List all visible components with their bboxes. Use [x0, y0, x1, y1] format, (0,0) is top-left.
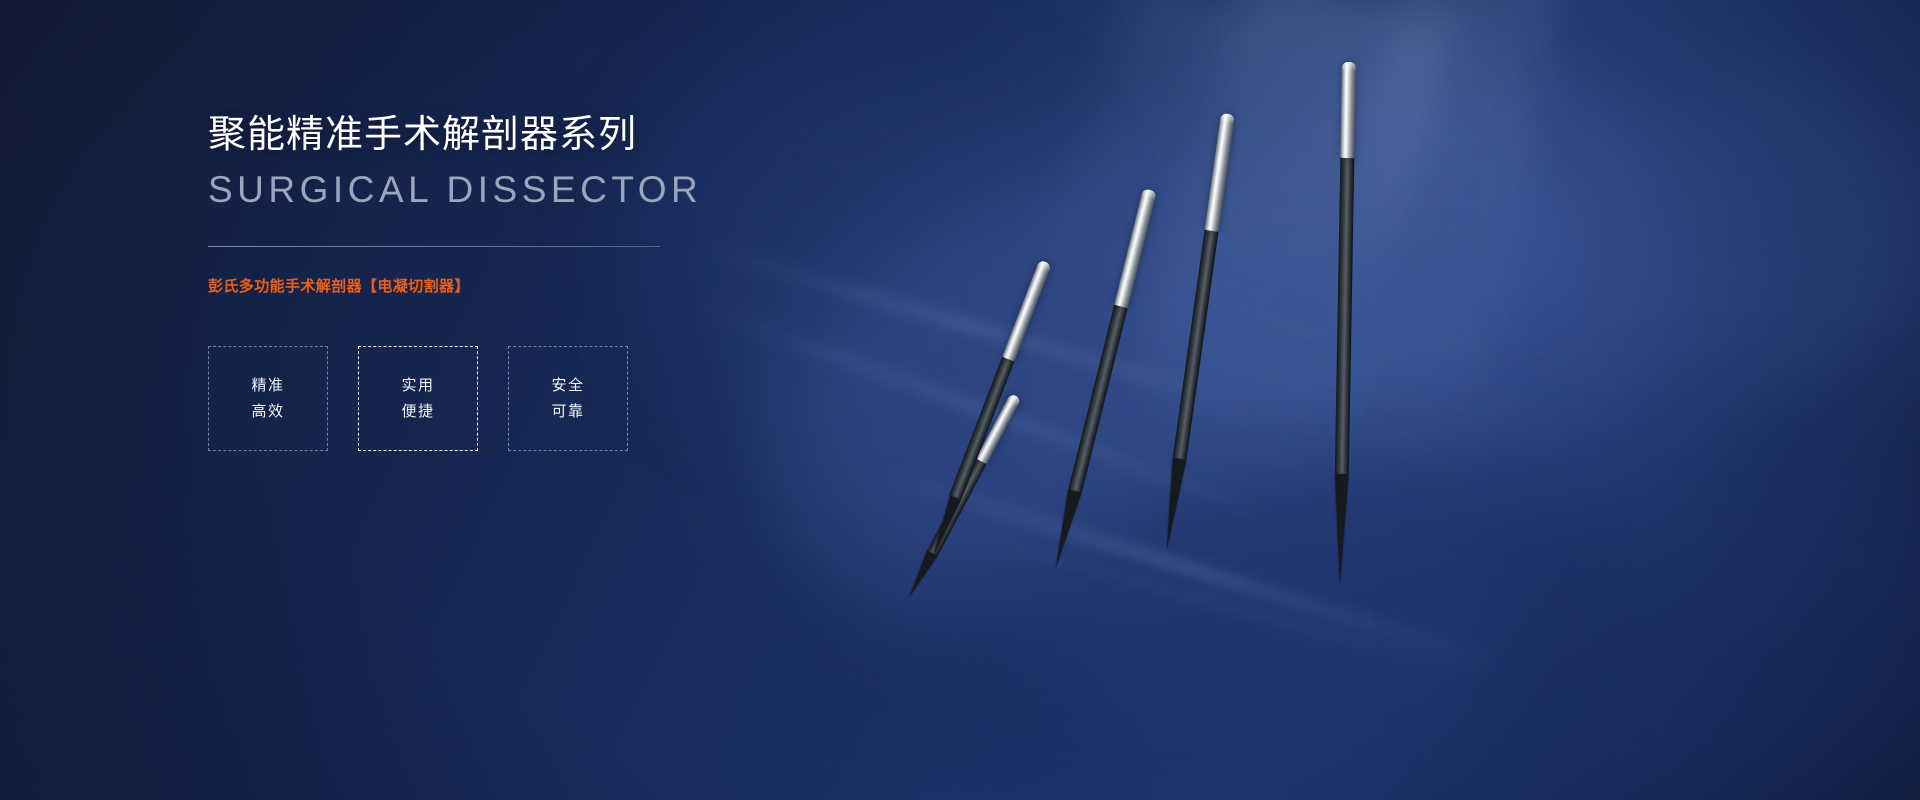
instrument-tip — [1333, 474, 1349, 584]
instrument-tip — [904, 550, 938, 600]
surgical-dissector-1 — [904, 393, 1022, 600]
instrument-shaft — [1173, 230, 1219, 460]
instrument-handle — [1114, 188, 1157, 308]
feature-box-precision[interactable]: 精准 高效 — [208, 346, 328, 451]
page-title: 聚能精准手术解剖器系列 — [208, 112, 828, 158]
divider — [208, 246, 660, 247]
feature-line-2: 高效 — [251, 403, 284, 420]
product-name: 彭氏多功能手术解剖器【电凝切割器】 — [208, 276, 828, 298]
feature-line-2: 可靠 — [551, 403, 584, 420]
surgical-dissector-4 — [1160, 113, 1235, 551]
feature-box-safety[interactable]: 安全 可靠 — [508, 346, 628, 451]
feature-line-2: 便捷 — [401, 403, 434, 420]
instrument-handle — [1205, 113, 1235, 232]
feature-box-practical[interactable]: 实用 便捷 — [358, 346, 478, 451]
surgical-dissector-5 — [1333, 62, 1356, 584]
instrument-tip — [1160, 458, 1187, 551]
surgical-dissector-2 — [926, 260, 1051, 560]
page-subtitle-english: SURGICAL DISSECTOR — [208, 168, 828, 212]
feature-line-1: 精准 — [251, 377, 284, 394]
instrument-tip — [926, 495, 960, 559]
instrument-handle — [1340, 62, 1356, 158]
instrument-shaft — [1068, 305, 1128, 493]
instrument-handle — [1002, 260, 1051, 362]
feature-line-1: 安全 — [551, 377, 584, 394]
hero-copy-block: 聚能精准手术解剖器系列 SURGICAL DISSECTOR 彭氏多功能手术解剖… — [208, 112, 828, 451]
feature-line-1: 实用 — [401, 377, 434, 394]
instrument-tip — [1049, 489, 1082, 570]
feature-box-list: 精准 高效 实用 便捷 安全 可靠 — [208, 346, 828, 451]
hero-banner: 聚能精准手术解剖器系列 SURGICAL DISSECTOR 彭氏多功能手术解剖… — [0, 0, 1920, 800]
instrument-shaft — [1335, 158, 1355, 474]
surgical-dissector-3 — [1049, 188, 1157, 570]
